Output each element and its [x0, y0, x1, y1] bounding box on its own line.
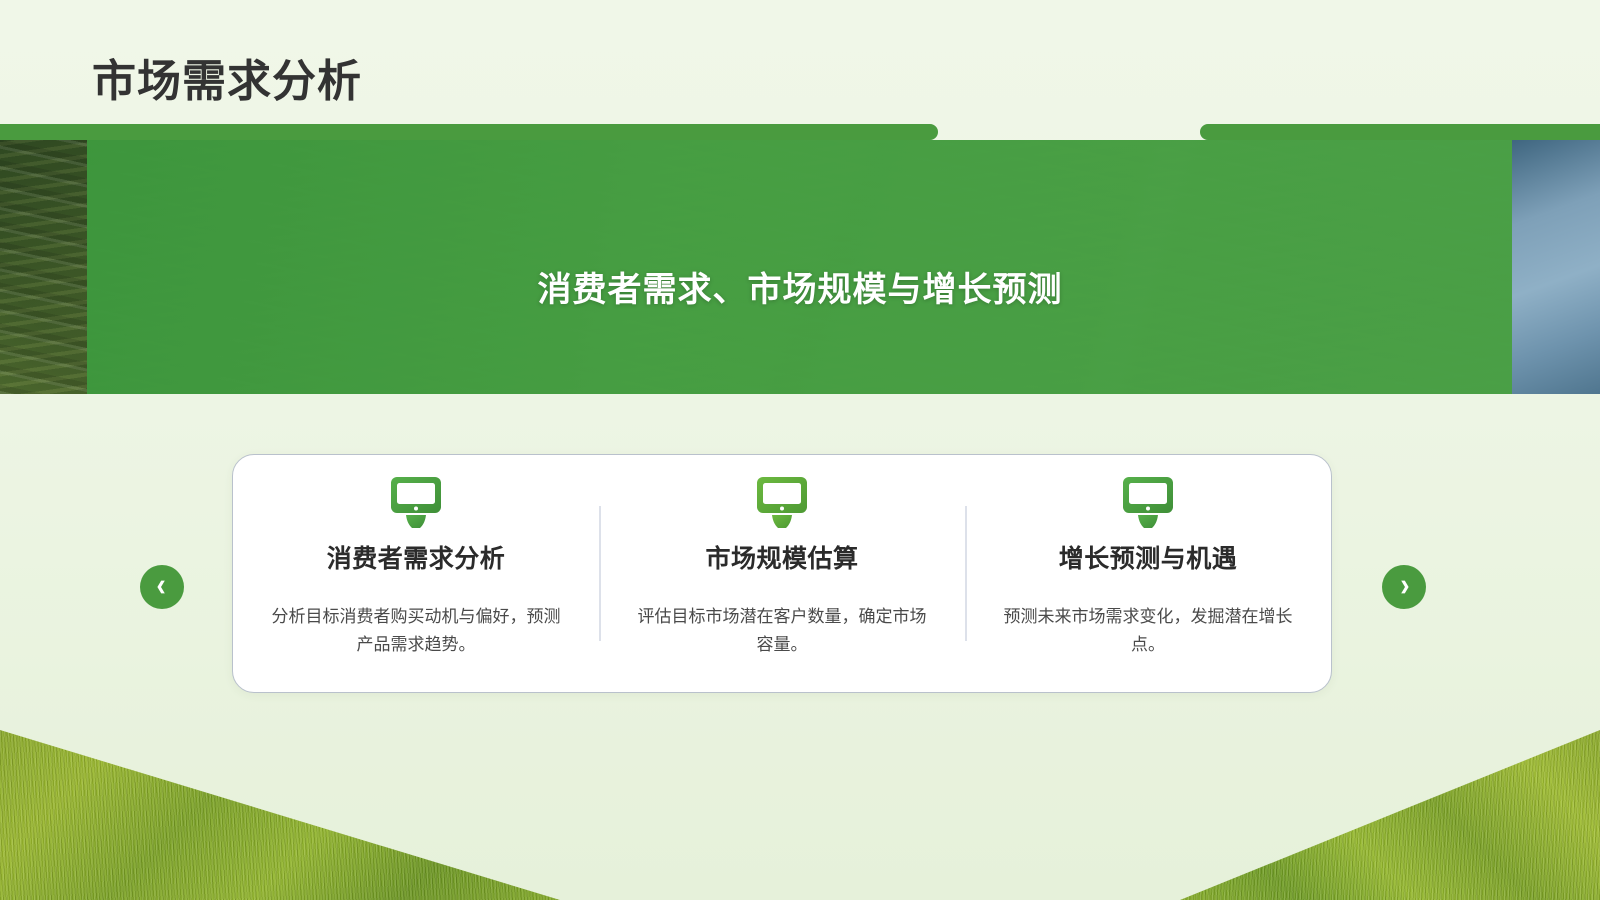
- feature-title: 市场规模估算: [705, 539, 858, 575]
- carousel-next-button[interactable]: [1382, 565, 1426, 609]
- chevron-left-icon: [152, 577, 172, 597]
- banner-subtitle: 消费者需求、市场规模与增长预测: [0, 262, 1600, 311]
- feature-column-1: 消费者需求分析 分析目标消费者购买动机与偏好，预测产品需求趋势。: [233, 455, 599, 692]
- banner: 消费者需求、市场规模与增长预测: [0, 140, 1600, 394]
- feature-description: 评估目标市场潜在客户数量，确定市场容量。: [633, 603, 931, 659]
- feature-card: 消费者需求分析 分析目标消费者购买动机与偏好，预测产品需求趋势。 市场规模估算 …: [232, 454, 1332, 693]
- feature-description: 分析目标消费者购买动机与偏好，预测产品需求趋势。: [267, 603, 565, 659]
- slide-root: 市场需求分析 消费者需求、市场规模与增长预测 消费者: [0, 0, 1600, 900]
- monitor-icon: [751, 475, 813, 531]
- chevron-right-icon: [1394, 577, 1414, 597]
- hill-right-decoration: [1180, 730, 1600, 900]
- feature-description: 预测未来市场需求变化，发掘潜在增长点。: [999, 603, 1297, 659]
- feature-title: 消费者需求分析: [327, 539, 506, 575]
- carousel-prev-button[interactable]: [140, 565, 184, 609]
- title-rule-bar-right: [1200, 124, 1600, 140]
- title-rule-bar-left: [0, 124, 938, 140]
- monitor-icon: [385, 475, 447, 531]
- feature-column-2: 市场规模估算 评估目标市场潜在客户数量，确定市场容量。: [599, 455, 965, 692]
- feature-title: 增长预测与机遇: [1059, 539, 1238, 575]
- hill-left-decoration: [0, 730, 560, 900]
- monitor-icon: [1117, 475, 1179, 531]
- feature-column-3: 增长预测与机遇 预测未来市场需求变化，发掘潜在增长点。: [965, 455, 1331, 692]
- page-title: 市场需求分析: [92, 60, 362, 104]
